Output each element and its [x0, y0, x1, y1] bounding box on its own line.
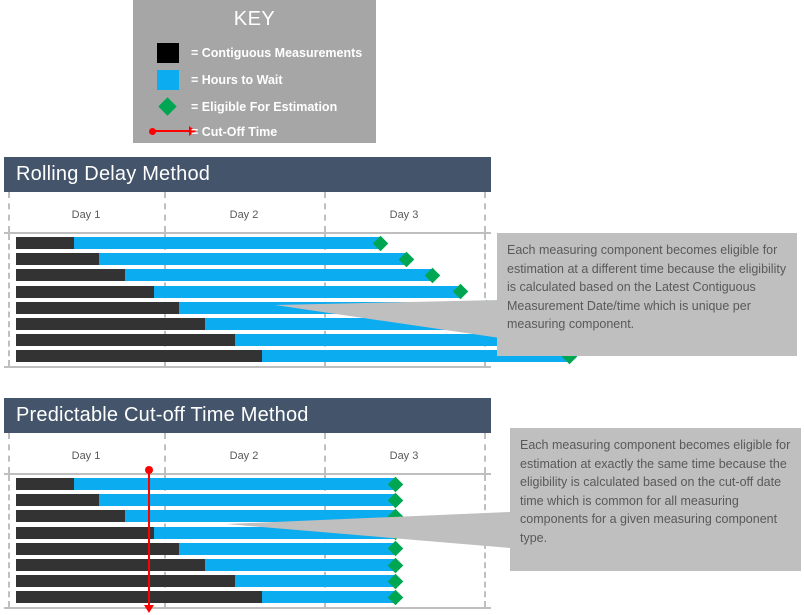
bar-hours-to-wait: [74, 478, 396, 490]
callout-leader-predictable-cutoff: [226, 508, 510, 558]
bar-contiguous-measurements: [16, 543, 179, 555]
red-arrow-icon: [152, 130, 190, 132]
bar-contiguous-measurements: [16, 302, 179, 314]
key-label-contiguous: = Contiguous Measurements: [191, 43, 362, 63]
blue-square-icon: [157, 70, 179, 90]
gridline-day3: [484, 433, 486, 473]
axis-label-day1: Day 1: [8, 192, 164, 232]
gridline-day3: [484, 192, 486, 232]
bar-hours-to-wait: [74, 237, 381, 249]
bar-contiguous-measurements: [16, 575, 235, 587]
black-square-icon: [157, 43, 179, 63]
panel-title-rolling-delay: Rolling Delay Method: [4, 157, 491, 192]
axis-label-day1: Day 1: [8, 433, 164, 473]
bar-hours-to-wait: [205, 559, 395, 571]
axis-days-rolling-delay: Day 1 Day 2 Day 3: [4, 192, 491, 232]
bar-contiguous-measurements: [16, 478, 74, 490]
bar-contiguous-measurements: [16, 591, 262, 603]
callout-leader-rolling-delay: [275, 296, 500, 346]
bar-contiguous-measurements: [16, 334, 235, 346]
green-diamond-icon: [158, 97, 176, 115]
plot-gridline-day0: [8, 475, 10, 607]
callout-rolling-delay: Each measuring component becomes eligibl…: [497, 233, 797, 356]
cutoff-time-arrowhead: [144, 605, 154, 613]
key-label-cutoff: = Cut-Off Time: [191, 122, 277, 142]
panel-title-predictable-cutoff: Predictable Cut-off Time Method: [4, 398, 491, 433]
bar-contiguous-measurements: [16, 237, 74, 249]
bar-contiguous-measurements: [16, 510, 125, 522]
bar-hours-to-wait: [262, 591, 395, 603]
key-label-eligible: = Eligible For Estimation: [191, 97, 337, 117]
bar-contiguous-measurements: [16, 269, 125, 281]
key-title: KEY: [133, 8, 376, 31]
key-label-hours-to-wait: = Hours to Wait: [191, 70, 283, 90]
bar-hours-to-wait: [99, 253, 406, 265]
plot-gridline-day0: [8, 234, 10, 366]
bar-hours-to-wait: [99, 494, 395, 506]
bar-contiguous-measurements: [16, 286, 154, 298]
axis-label-day2: Day 2: [164, 192, 324, 232]
bar-contiguous-measurements: [16, 350, 262, 362]
diagram-canvas: KEY = Contiguous Measurements = Hours to…: [0, 0, 804, 615]
axis-label-day3: Day 3: [324, 433, 484, 473]
bar-contiguous-measurements: [16, 494, 99, 506]
axis-label-day3: Day 3: [324, 192, 484, 232]
bar-contiguous-measurements: [16, 527, 154, 539]
legend-key-box: KEY = Contiguous Measurements = Hours to…: [133, 0, 376, 143]
bar-contiguous-measurements: [16, 253, 99, 265]
callout-predictable-cutoff: Each measuring component becomes eligibl…: [510, 428, 801, 571]
bar-hours-to-wait: [125, 269, 432, 281]
bar-hours-to-wait: [235, 575, 395, 587]
axis-days-predictable-cutoff: Day 1 Day 2 Day 3: [4, 433, 491, 473]
panel-predictable-cutoff: Predictable Cut-off Time Method Day 1 Da…: [4, 398, 491, 609]
bar-contiguous-measurements: [16, 559, 205, 571]
axis-label-day2: Day 2: [164, 433, 324, 473]
bar-contiguous-measurements: [16, 318, 205, 330]
cutoff-time-line: [148, 470, 150, 608]
